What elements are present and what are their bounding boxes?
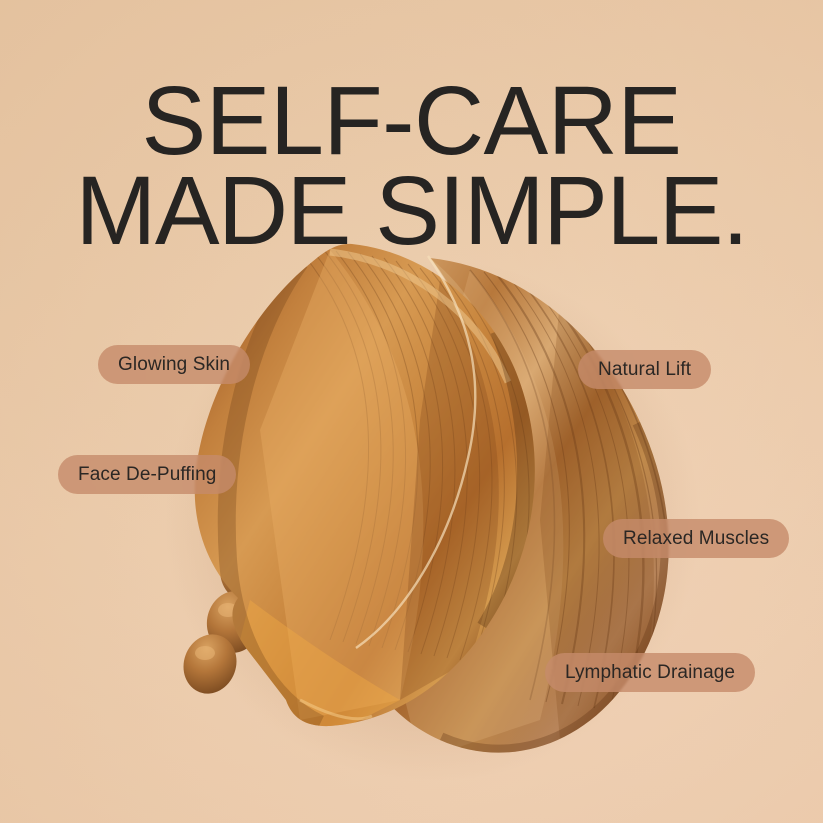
product-image-wooden-massage-comb — [0, 0, 823, 823]
benefit-label: Natural Lift — [598, 359, 691, 381]
benefit-label: Lymphatic Drainage — [565, 662, 735, 684]
self-care-promo-poster: SELF-CARE MADE SIMPLE. Glowing Skin Face… — [0, 0, 823, 823]
benefit-pill-natural-lift: Natural Lift — [578, 350, 711, 389]
benefit-pill-face-de-puffing: Face De-Puffing — [58, 455, 236, 494]
comb-toothed-blade — [0, 0, 823, 823]
benefit-label: Relaxed Muscles — [623, 528, 769, 550]
benefit-pill-lymphatic-drainage: Lymphatic Drainage — [545, 653, 755, 692]
benefit-pill-relaxed-muscles: Relaxed Muscles — [603, 519, 789, 558]
benefit-pill-glowing-skin: Glowing Skin — [98, 345, 250, 384]
benefit-label: Glowing Skin — [118, 354, 230, 376]
benefit-label: Face De-Puffing — [78, 464, 216, 486]
